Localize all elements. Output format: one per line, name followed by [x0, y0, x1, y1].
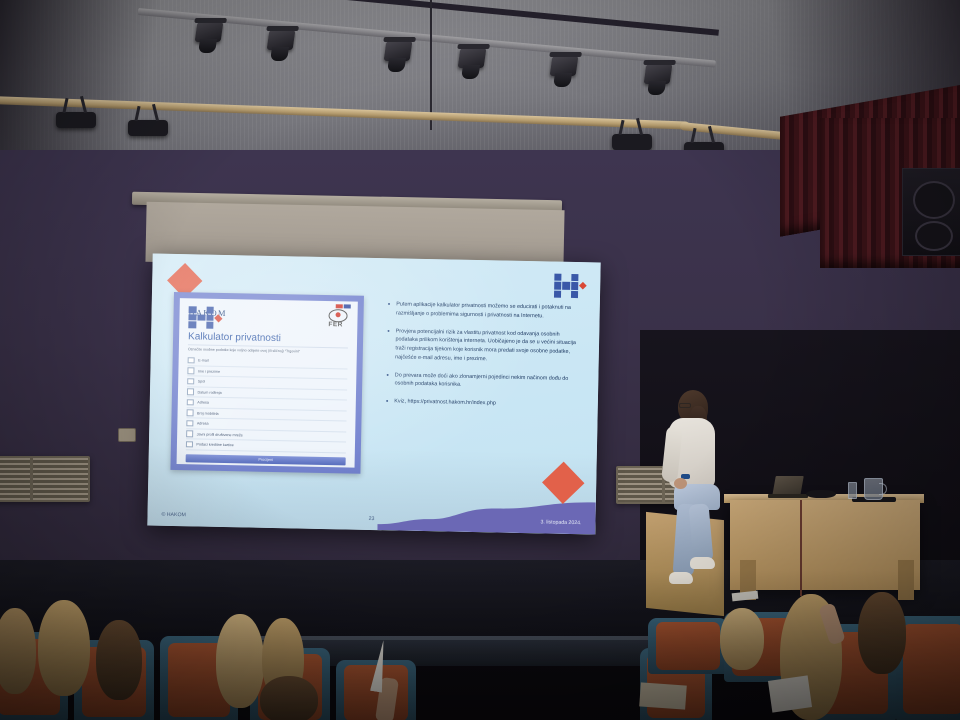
hakom-logo [554, 274, 586, 299]
presenter-shoe [690, 557, 715, 569]
spotlight-icon [550, 56, 579, 76]
presenter-desk [730, 500, 920, 590]
checkbox-icon[interactable] [187, 389, 194, 396]
embedded-brand-block: HAKOM [189, 306, 227, 318]
checkbox-label: Datum rođenja [197, 390, 221, 394]
spotlight-icon [644, 64, 673, 84]
audience-member [38, 600, 90, 696]
truss-spotlight-icon [56, 112, 96, 128]
embedded-app-title: Kalkulator privatnosti [188, 331, 348, 348]
audience-member [216, 614, 264, 708]
audience-member [858, 592, 906, 674]
checkbox-icon[interactable] [186, 431, 193, 438]
embedded-app-screenshot: HAKOM FER Kalkulator privatnosti Označit… [170, 292, 364, 474]
checkbox-icon[interactable] [187, 368, 194, 375]
bullet-item: • Kviz, https://privatnost.hakom.hr/inde… [386, 397, 578, 412]
embedded-app-window: HAKOM FER Kalkulator privatnosti Označit… [177, 298, 358, 468]
handout-paper [768, 675, 812, 712]
spotlight-icon [195, 22, 224, 42]
bullet-text: Kviz, https://privatnost.hakom.hr/index.… [394, 397, 496, 410]
presenter-leg [689, 503, 714, 563]
presenter [660, 392, 732, 606]
checkbox-label: Javni profil društvene mreže [197, 432, 243, 437]
checkbox-label: Ime i prezime [198, 369, 220, 373]
bullet-item: • Do prevara može doći ako zlonamjerni p… [386, 371, 578, 392]
slide-copyright: © HAKOM [161, 512, 185, 518]
hakom-logo-small [188, 306, 222, 329]
presentation-slide: HAKOM FER Kalkulator privatnosti Označit… [147, 254, 600, 535]
checkbox-icon[interactable] [187, 378, 194, 385]
presenter-shoe [669, 572, 693, 584]
checkbox-label: Podaci kreditne kartice [196, 443, 233, 448]
audience-member [96, 620, 142, 700]
checkbox-icon[interactable] [186, 420, 193, 427]
wall-vent-left [0, 456, 90, 502]
checkbox-row[interactable]: Podaci kreditne kartice [186, 440, 346, 454]
checkbox-label: Adresa [197, 401, 209, 405]
water-glass [848, 482, 857, 499]
audience-member [0, 608, 36, 694]
checkbox-icon[interactable] [187, 399, 194, 406]
help-link[interactable]: Kako koristiti kalkulator? [185, 466, 345, 468]
checkbox-label: Broj mobitela [197, 411, 219, 415]
loudspeaker [902, 168, 960, 256]
checkbox-icon[interactable] [187, 410, 194, 417]
language-switch[interactable] [336, 304, 351, 308]
handout-paper [639, 682, 687, 709]
checkbox-icon[interactable] [186, 441, 193, 448]
truss-spotlight-icon [612, 134, 652, 150]
laptop-screen[interactable] [772, 476, 804, 496]
submit-button[interactable]: Procijeni [186, 454, 346, 465]
embedded-app-links: Kako koristiti kalkulator? Zaštita osobn… [185, 466, 345, 468]
bullet-text: Putem aplikacije kalkulator privatnosti … [396, 300, 580, 321]
fer-logo: FER [326, 309, 348, 329]
bullet-item: • Putem aplikacije kalkulator privatnost… [388, 300, 580, 321]
bullet-marker: • [386, 371, 389, 389]
bullet-text: Provjera potencijalni rizik za vlastitu … [395, 327, 579, 366]
slide-page-number: 23 [369, 516, 375, 522]
bullet-marker: • [387, 327, 390, 362]
truss-spotlight-icon [128, 120, 168, 136]
slide-bullet-list: • Putem aplikacije kalkulator privatnost… [386, 300, 580, 421]
presenter-hand [674, 478, 687, 489]
auditorium-seat[interactable] [648, 618, 728, 674]
water-pitcher [864, 478, 883, 500]
bullet-marker: • [386, 397, 389, 408]
projection-screen: HAKOM FER Kalkulator privatnosti Označit… [147, 254, 600, 535]
wall-outlet [118, 428, 136, 442]
checkbox-label: Spol [198, 380, 205, 384]
power-cable [800, 500, 802, 596]
ceiling-hanger-rod [430, 0, 432, 130]
screenshot-scene: HAKOM FER Kalkulator privatnosti Označit… [0, 0, 960, 720]
checkbox-list: E-mail Ime i prezime Spol Datum rođ [186, 356, 348, 454]
audience-member [720, 608, 764, 670]
fer-wordmark: FER [328, 321, 343, 328]
embedded-app-header: HAKOM FER [188, 306, 348, 329]
spotlight-icon [384, 41, 413, 61]
bullet-marker: • [388, 300, 391, 318]
spotlight-icon [458, 48, 487, 68]
checkbox-label: E-mail [198, 359, 209, 363]
bullet-item: • Provjera potencijalni rizik za vlastit… [387, 327, 580, 366]
checkbox-label: Adresa [197, 422, 209, 426]
submit-button-label: Procijeni [258, 457, 273, 461]
glasses-icon [679, 403, 691, 408]
audience-member [260, 676, 318, 720]
bullet-text: Do prevara može doći ako zlonamjerni poj… [395, 371, 579, 392]
embedded-app-subtitle: Označite osobne podatke koje voljno odaj… [188, 347, 348, 356]
presenter-clicker[interactable] [806, 490, 836, 498]
laptop-base[interactable] [768, 494, 808, 498]
desk-leg [898, 560, 914, 600]
spotlight-icon [267, 30, 296, 50]
slide-date: 3. listopada 2024. [540, 519, 581, 526]
checkbox-icon[interactable] [188, 357, 195, 364]
